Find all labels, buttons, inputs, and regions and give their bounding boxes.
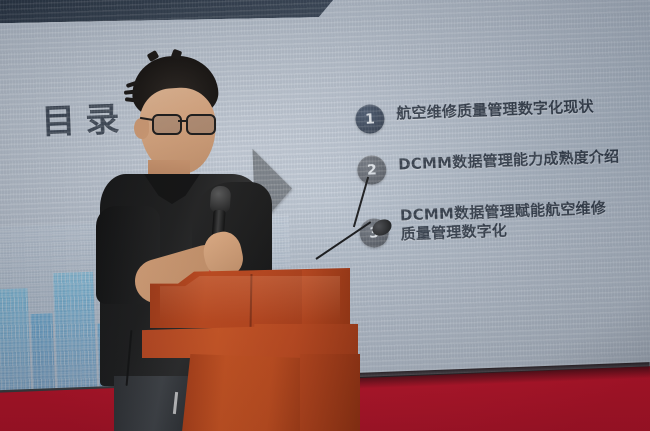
- microphone-head: [210, 185, 232, 212]
- lens-right: [186, 114, 216, 135]
- gooseneck-microphone-icon: [316, 206, 390, 282]
- eyeglasses-icon: [152, 114, 218, 131]
- lens-left: [152, 114, 182, 135]
- screenshot-root: TECHNOLOGY & TEST 股票代码：002967 目录 1 航空维修质…: [0, 0, 650, 431]
- podium-mid-panel: [142, 324, 358, 358]
- podium: [150, 268, 350, 431]
- glasses-bridge: [178, 120, 187, 122]
- gooseneck-stem: [315, 221, 371, 260]
- speaker-ear: [134, 118, 149, 139]
- podium-base-right-panel: [300, 354, 360, 431]
